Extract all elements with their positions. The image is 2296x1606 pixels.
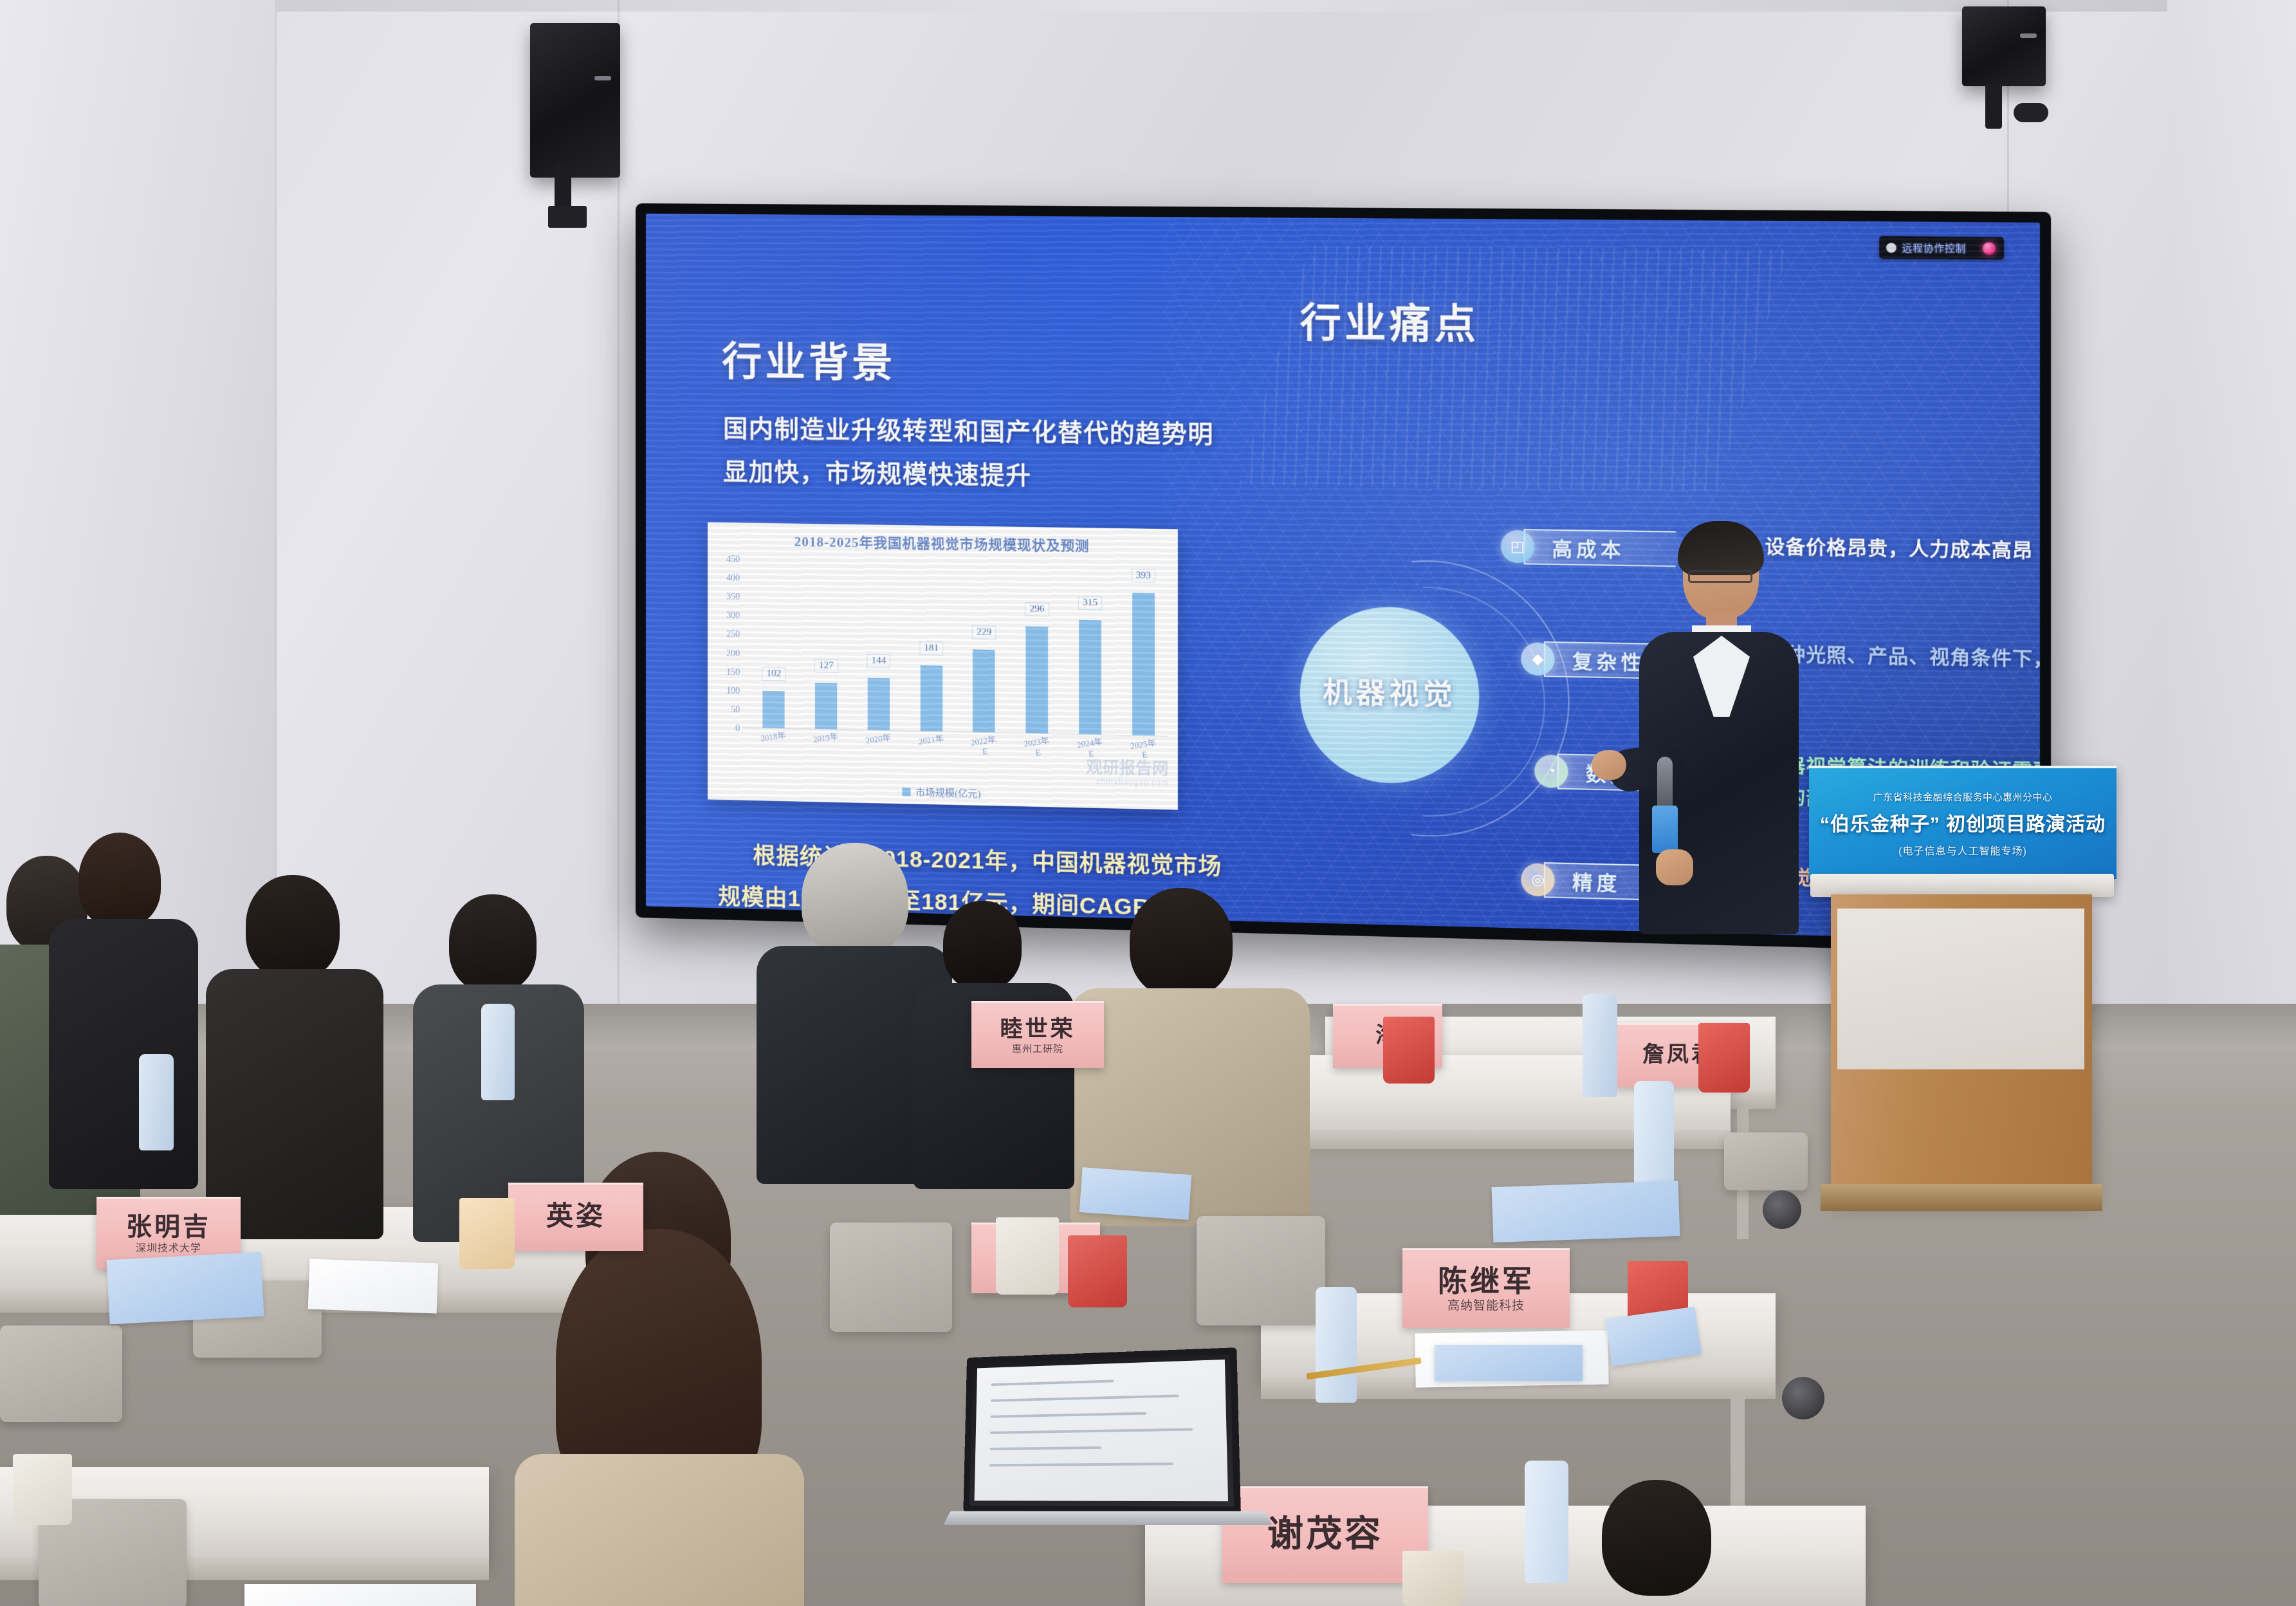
pie-chart-icon: ◔ [1534,755,1568,788]
speaker-bracket-left [548,206,587,228]
person-head [1602,1480,1711,1596]
drink-cup [459,1198,515,1269]
y-tick: 0 [735,724,740,734]
name-card-org: 深圳技术大学 [136,1244,201,1254]
brochure [107,1252,264,1324]
paper-cup [996,1217,1059,1295]
podium-top-surface [1810,874,2114,897]
doc-line [991,1394,1179,1401]
podium-sign: 广东省科技金融综合服务中心惠州分中心 “伯乐金种子” 初创项目路演活动 (电子信… [1809,766,2117,879]
bar-value-label: 229 [972,625,996,640]
x-tick: 2021年 [915,731,948,754]
legend-label: 市场规模(亿元) [915,785,981,800]
watermark-name: 观研报告网 [1086,759,1168,779]
center-circle-label: 机器视觉 [1300,669,1480,714]
section-heading-background: 行业背景 [722,329,895,389]
doc-line [991,1380,1114,1386]
chair [1197,1216,1325,1325]
paper-cup [1402,1551,1464,1606]
doc-line [990,1428,1193,1434]
legend-swatch [902,788,910,796]
chart-bar [1079,620,1101,735]
y-tick: 100 [726,686,740,696]
audience-member [203,875,383,1235]
presenter-hand-mic [1656,849,1693,885]
remote-control-label: 远程协作控制 [1902,241,1966,255]
speaker-mount-right [1985,84,2002,129]
podium-front-panel [1837,909,2084,1069]
chart-bar-group: 229 [969,649,999,732]
person-body [49,919,198,1189]
bar-value-label: 296 [1025,602,1049,616]
podium: 广东省科技金融综合服务中心惠州分中心 “伯乐金种子” 初创项目路演活动 (电子信… [1801,766,2123,1242]
y-tick: 350 [726,593,740,603]
name-card-org: 惠州工研院 [1012,1044,1063,1054]
y-tick: 450 [726,555,740,565]
ceiling-speaker-left [530,23,620,178]
control-icon [1886,243,1896,253]
chart-title: 2018-2025年我国机器视觉市场规模现状及预测 [708,522,1178,557]
x-tick: 2023年E [1020,734,1053,757]
doc-line [991,1412,1146,1418]
document-sheet [308,1259,439,1314]
chart-bar-group: 181 [916,666,946,732]
person-body [515,1454,804,1606]
y-tick: 300 [726,611,740,622]
water-bottle [1634,1081,1674,1197]
ceiling-speaker-right [1962,6,2046,86]
name-card-name: 睦世荣 [1000,1018,1075,1040]
caster-wheel [1782,1377,1824,1419]
paper-cup [1698,1023,1750,1093]
brochure [1492,1181,1680,1242]
chart-bars: 102127144181229296315393 [748,555,1170,736]
water-bottle [1525,1461,1568,1583]
conference-room-scene: 远程协作控制 行业背景 国内制造业升级转型和国产化替代的趋势明显加快，市场规模快… [0,0,2296,1606]
presenter [1621,528,1814,939]
podium-sign-line-2: “伯乐金种子” 初创项目路演活动 [1820,808,2106,836]
brochure [1079,1167,1191,1220]
name-card: 睦世荣 惠州工研院 [971,1001,1104,1068]
x-tick: 2022年E [968,732,1000,755]
audience-member [36,836,203,1210]
name-card-org: 高纳智能科技 [1447,1300,1525,1312]
wall-right-column [2167,0,2296,1004]
chart-icon: ◰ [1501,530,1534,564]
pain-point-chip-label: 精度 [1572,866,1621,896]
speaker-led [2020,33,2037,38]
speaker-led [594,76,611,80]
chart-bar [815,683,837,730]
chart-bar [973,649,995,732]
chair [0,1325,122,1422]
bar-value-label: 144 [867,654,890,669]
chart-bar-group: 144 [864,678,894,730]
laptop-document [975,1360,1229,1501]
laptop[interactable] [959,1351,1280,1564]
person-head [78,833,161,927]
chart-bar-group: 315 [1075,620,1105,735]
chart-bar [1026,626,1049,734]
chart-bar-group: 296 [1022,626,1052,734]
pain-point-chip-label: 高成本 [1552,533,1624,563]
audience-member [1544,1480,1776,1606]
presenter-hand [1592,750,1626,780]
chart-y-axis: 050100150200250300350400450 [708,553,744,730]
name-card-name: 谢茂容 [1267,1516,1383,1552]
target-icon: ◎ [1521,863,1554,896]
x-tick: 2024年E [1074,734,1107,757]
chart-bar-group: 393 [1128,593,1159,735]
name-card-name: 陈继军 [1438,1266,1534,1296]
chart-bar [868,678,890,730]
laptop-keyboard[interactable] [943,1511,1272,1525]
y-tick: 400 [726,573,740,584]
chart-bar [763,691,785,728]
chart-plot-area: 050100150200250300350400450 102127144181… [708,553,1178,764]
chart-bar [920,666,942,732]
glasses-icon [1688,570,1752,583]
chair [1724,1132,1808,1190]
y-tick: 50 [731,705,740,715]
bar-value-label: 127 [814,660,838,674]
chair [830,1223,952,1332]
section-heading-pain-points: 行业痛点 [1300,290,1480,351]
market-size-chart: 2018-2025年我国机器视觉市场规模现状及预测 05010015020025… [708,522,1178,810]
y-tick: 200 [726,649,740,659]
water-bottle [1583,994,1617,1097]
bar-value-label: 393 [1131,569,1155,583]
podium-sign-line-1: 广东省科技金融综合服务中心惠州分中心 [1873,790,2052,804]
chart-bar [1132,593,1155,735]
slide-fan-texture [1240,246,1788,491]
water-bottle [481,1004,515,1100]
name-card-name: 张明吉 [126,1214,211,1240]
lead-paragraph: 国内制造业升级转型和国产化替代的趋势明显加快，市场规模快速提升 [723,408,1220,501]
presenter-hair [1678,521,1764,575]
person-head [802,843,908,956]
x-tick: 2025年E [1126,735,1159,759]
chart-bar-group: 102 [759,691,789,728]
chart-watermark: 观研报告网 chinabaogao.com [1086,759,1168,788]
y-tick: 150 [726,667,740,678]
y-tick: 250 [726,630,740,640]
person-head [943,901,1022,990]
chart-bar-group: 127 [811,683,841,730]
laptop-screen[interactable] [963,1347,1241,1513]
microphone-flag [1652,806,1678,853]
record-icon[interactable] [1983,242,1996,255]
water-bottle [139,1054,174,1150]
paper-cup [1068,1235,1127,1307]
ceiling-strip [0,0,2296,12]
caster-wheel [1763,1190,1801,1229]
remote-control-badge[interactable]: 远程协作控制 [1879,236,2004,260]
person-head [1130,888,1233,997]
name-card-name: 英姿 [546,1203,605,1230]
podium-base [1821,1184,2102,1211]
x-tick: 2019年 [810,729,843,752]
brochure [1435,1345,1583,1381]
location-pin-icon: ◆ [1521,642,1554,676]
document-sheet [244,1584,476,1606]
bar-value-label: 315 [1078,596,1102,610]
x-tick: 2020年 [862,730,895,753]
paper-cup [1383,1017,1435,1084]
bar-value-label: 181 [919,641,943,656]
doc-line [990,1446,1101,1450]
doc-line [989,1463,1173,1466]
bar-value-label: 102 [762,667,785,681]
paper-cup [13,1454,72,1525]
watermark-url: chinabaogao.com [1086,777,1168,788]
person-head [246,875,340,979]
person-head [449,894,537,992]
name-card: 陈继军 高纳智能科技 [1402,1248,1570,1328]
water-bottle [1316,1287,1357,1403]
speaker-bracket-right [2014,103,2048,122]
podium-sign-line-3: (电子信息与人工智能专场) [1898,842,2027,858]
name-card: 英姿 [508,1183,643,1251]
x-tick: 2018年 [758,728,790,751]
